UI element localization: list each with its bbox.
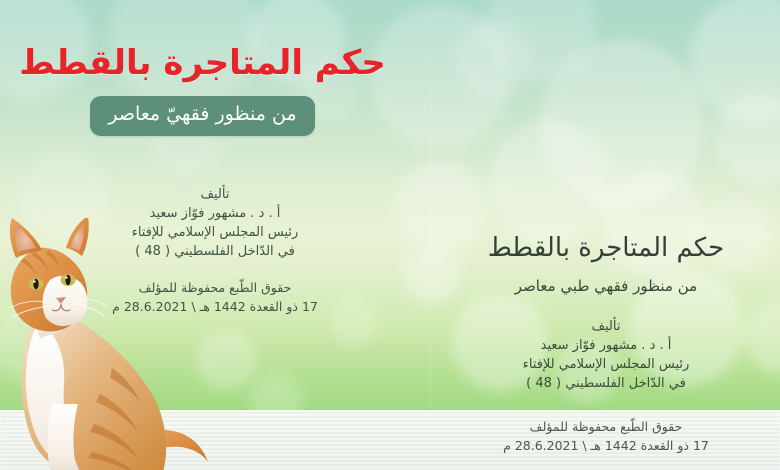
subtitle-badge: من منظور فقهيّ معاصر — [90, 96, 314, 136]
right-panel-subtitle: من منظور فقهي طبي معاصر — [432, 277, 780, 295]
poster-canvas: حكم المتاجرة بالقطط من منظور فقهيّ معاصر… — [0, 0, 780, 470]
headline-block: حكم المتاجرة بالقطط من منظور فقهيّ معاصر — [0, 44, 405, 136]
page-title: حكم المتاجرة بالقطط — [0, 44, 405, 82]
right-credits-block: تأليف أ . د . مشهور فوّاز سعيد رئيس المج… — [432, 318, 780, 394]
right-rights-line2: 17 ذو القعدة 1442 هـ \ 28.6.2021 م — [432, 437, 780, 456]
left-credits-block: تأليف أ . د . مشهور فوّاز سعيد رئيس المج… — [40, 186, 390, 316]
right-authored-by-label: تأليف — [432, 318, 780, 337]
right-author-role-line1: رئيس المجلس الإسلامي للإفتاء — [432, 356, 780, 375]
cat-ear-left — [10, 218, 42, 258]
left-author-name: أ . د . مشهور فوّاز سعيد — [40, 205, 390, 224]
left-author-role-line2: في الدّاخل الفلسطيني ( 48 ) — [40, 243, 390, 262]
left-author-block: أ . د . مشهور فوّاز سعيد رئيس المجلس الإ… — [40, 205, 390, 262]
right-rights-line1: حقوق الطّبع محفوظة للمؤلف — [432, 418, 780, 437]
left-author-role-line1: رئيس المجلس الإسلامي للإفتاء — [40, 224, 390, 243]
left-rights-line1: حقوق الطّبع محفوظة للمؤلف — [40, 279, 390, 297]
left-authored-by-label: تأليف — [40, 186, 390, 205]
panel-divider — [430, 0, 431, 470]
right-rights-block: حقوق الطّبع محفوظة للمؤلف 17 ذو القعدة 1… — [432, 418, 780, 456]
right-author-name: أ . د . مشهور فوّاز سعيد — [432, 337, 780, 356]
right-author-role-line2: في الدّاخل الفلسطيني ( 48 ) — [432, 375, 780, 394]
left-rights-block: حقوق الطّبع محفوظة للمؤلف 17 ذو القعدة 1… — [40, 279, 390, 315]
right-panel-title: حكم المتاجرة بالقطط — [432, 234, 780, 263]
left-rights-line2: 17 ذو القعدة 1442 هـ \ 28.6.2021 م — [40, 298, 390, 316]
right-panel: حكم المتاجرة بالقطط من منظور فقهي طبي مع… — [432, 0, 780, 470]
subtitle-badge-wrapper: من منظور فقهيّ معاصر — [0, 96, 405, 136]
cat-pupil-left — [33, 279, 38, 289]
cat-eye-glint-left — [33, 280, 36, 282]
cat-ear-left-inner — [15, 225, 36, 252]
